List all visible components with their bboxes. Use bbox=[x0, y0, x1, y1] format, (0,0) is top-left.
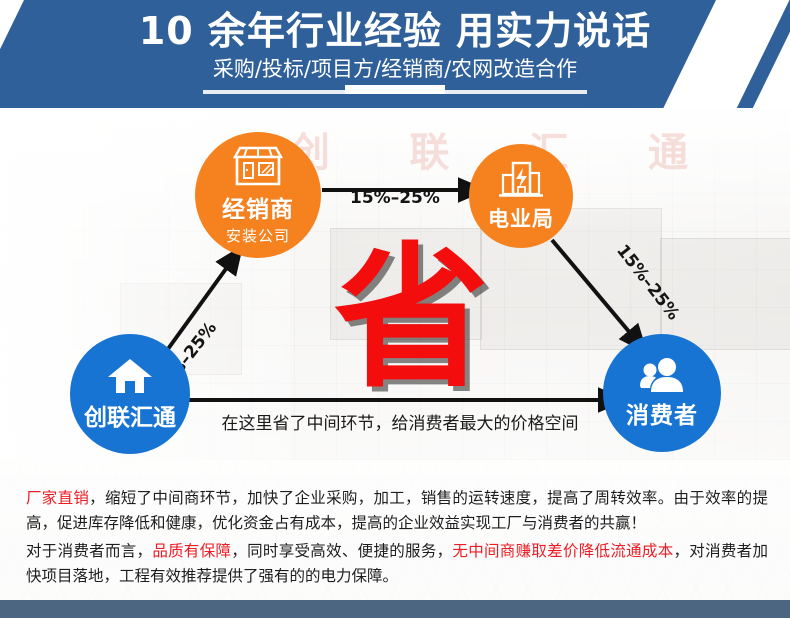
header-divider-accent bbox=[345, 85, 445, 94]
people-icon bbox=[638, 356, 686, 394]
node-dealer-label: 经销商 bbox=[222, 190, 294, 224]
paragraph-1-rest: ，缩短了中间商环节，加快了企业采购，加工，销售的运转速度，提高了周转效率。由于效… bbox=[26, 489, 768, 532]
node-brand-label: 创联汇通 bbox=[84, 398, 176, 432]
arrow-label-dealer-to-bureau: 15%–25% bbox=[350, 188, 440, 208]
flow-diagram: 创 联 汇 通 15%–25% 15%–25% 15%–25% 省 bbox=[0, 108, 790, 460]
paragraph-2-mid: ，同时享受高效、便捷的服务， bbox=[231, 542, 452, 560]
storefront-icon bbox=[230, 145, 286, 187]
footer-bar bbox=[0, 600, 790, 618]
page-header: 10 余年行业经验 用实力说话 采购/投标/项目方/经销商/农网改造合作 bbox=[0, 0, 790, 108]
node-power-bureau-label: 电业局 bbox=[488, 203, 554, 233]
node-dealer-sublabel: 安装公司 bbox=[226, 225, 290, 246]
promo-page: 10 余年行业经验 用实力说话 采购/投标/项目方/经销商/农网改造合作 创 联… bbox=[0, 0, 790, 618]
node-consumer-label: 消费者 bbox=[626, 396, 698, 430]
copy-section: 厂家直销，缩短了中间商环节，加快了企业采购，加工，销售的运转速度，提高了周转效率… bbox=[0, 460, 790, 600]
node-dealer[interactable]: 经销商 安装公司 bbox=[195, 132, 321, 258]
page-title: 10 余年行业经验 用实力说话 bbox=[0, 9, 790, 53]
node-power-bureau[interactable]: 电业局 bbox=[469, 144, 573, 248]
power-building-icon bbox=[496, 160, 546, 200]
paragraph-2-highlight-2: 无中间商赚取差价降低流通成本 bbox=[452, 542, 673, 560]
home-icon bbox=[106, 356, 154, 396]
flow-caption: 在这里省了中间环节，给消费者最大的价格空间 bbox=[200, 409, 600, 434]
node-consumer[interactable]: 消费者 bbox=[603, 334, 721, 452]
page-subtitle: 采购/投标/项目方/经销商/农网改造合作 bbox=[0, 56, 790, 82]
paragraph-2-lead: 对于消费者而言， bbox=[26, 542, 152, 560]
paragraph-1-highlight: 厂家直销 bbox=[26, 489, 89, 507]
paragraph-2-highlight-1: 品质有保障 bbox=[152, 542, 231, 560]
paragraph-1: 厂家直销，缩短了中间商环节，加快了企业采购，加工，销售的运转速度，提高了周转效率… bbox=[26, 486, 768, 536]
save-character: 省 bbox=[334, 241, 489, 396]
paragraph-2: 对于消费者而言，品质有保障，同时享受高效、便捷的服务，无中间商赚取差价降低流通成… bbox=[26, 539, 768, 589]
node-brand[interactable]: 创联汇通 bbox=[70, 334, 190, 454]
